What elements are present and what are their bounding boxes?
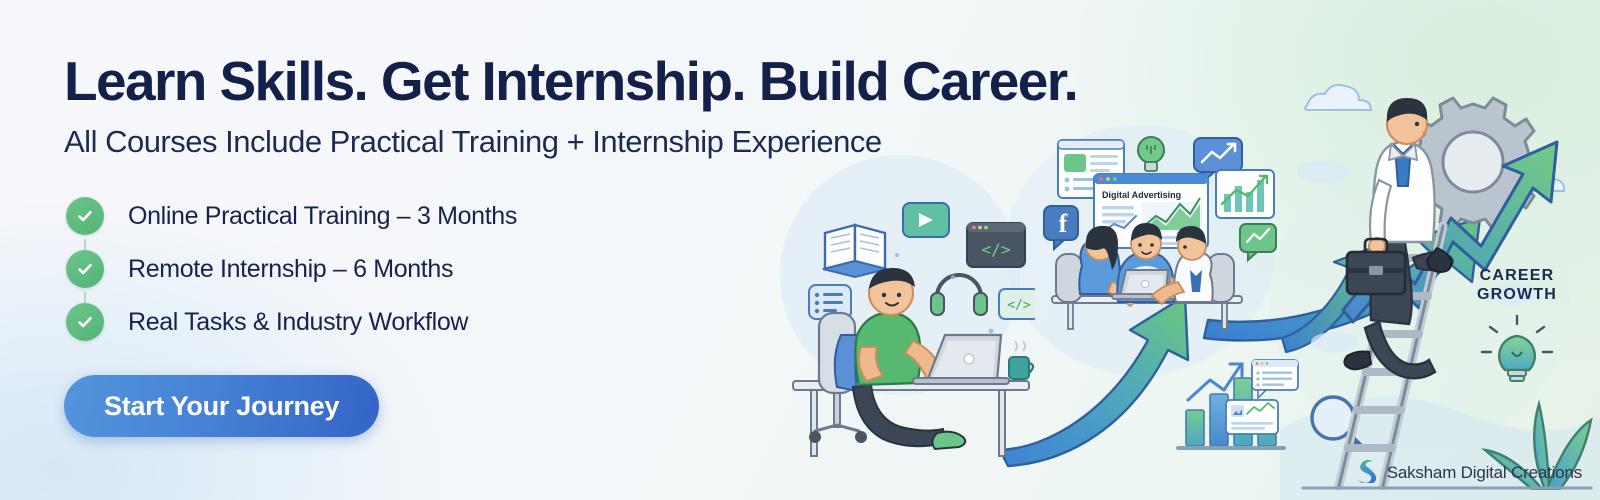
saksham-s-logo-icon [1354, 457, 1378, 488]
lightbulb-idea-icon [1482, 316, 1552, 381]
page-title: Learn Skills. Get Internship. Build Care… [64, 52, 784, 110]
coffee-mug-icon [1009, 341, 1033, 379]
check-circle-icon [66, 197, 104, 235]
banner-content: Learn Skills. Get Internship. Build Care… [64, 52, 784, 437]
check-circle-wrap [66, 197, 106, 237]
facebook-icon: f [1044, 206, 1078, 249]
feature-list: Online Practical Training – 3 Months Rem… [66, 190, 784, 349]
brand-logo: Saksham Digital Creations [1354, 457, 1582, 488]
check-circle-icon [66, 303, 104, 341]
play-video-icon [903, 203, 949, 237]
browser-window-title: Digital Advertising [1102, 190, 1181, 200]
check-circle-wrap [66, 250, 106, 290]
promo-banner: </> </> [0, 0, 1600, 500]
brand-name: Saksham Digital Creations [1387, 463, 1582, 483]
check-circle-wrap [66, 303, 106, 343]
start-your-journey-button[interactable]: Start Your Journey [64, 375, 379, 437]
lightbulb-icon [1138, 137, 1164, 171]
list-item: Real Tasks & Industry Workflow [66, 296, 784, 349]
career-ladder-scene: CAREER GROWTH [1295, 70, 1595, 490]
feature-label: Real Tasks & Industry Workflow [128, 308, 468, 337]
chat-bubble-green [1240, 224, 1276, 260]
career-growth-line2: GROWTH [1477, 286, 1557, 303]
list-item: Online Practical Training – 3 Months [66, 190, 784, 243]
team-meeting-scene: f Digital Advertising [1008, 128, 1278, 338]
list-item: Remote Internship – 6 Months [66, 243, 784, 296]
feature-label: Remote Internship – 6 Months [128, 255, 453, 284]
check-circle-icon [66, 250, 104, 288]
chart-popup-card [1252, 360, 1298, 398]
headphones-icon [931, 275, 987, 315]
career-growth-line1: CAREER [1480, 267, 1555, 284]
bar-chart-panel [1216, 170, 1274, 218]
student-scene: </> </> [785, 185, 1035, 465]
subtitle: All Courses Include Practical Training +… [64, 124, 784, 160]
svg-text:</>: </> [982, 240, 1011, 259]
chart-mini-card [1226, 400, 1278, 434]
feature-label: Online Practical Training – 3 Months [128, 202, 517, 231]
book-icon [823, 225, 887, 277]
facebook-glyph: f [1059, 209, 1068, 238]
